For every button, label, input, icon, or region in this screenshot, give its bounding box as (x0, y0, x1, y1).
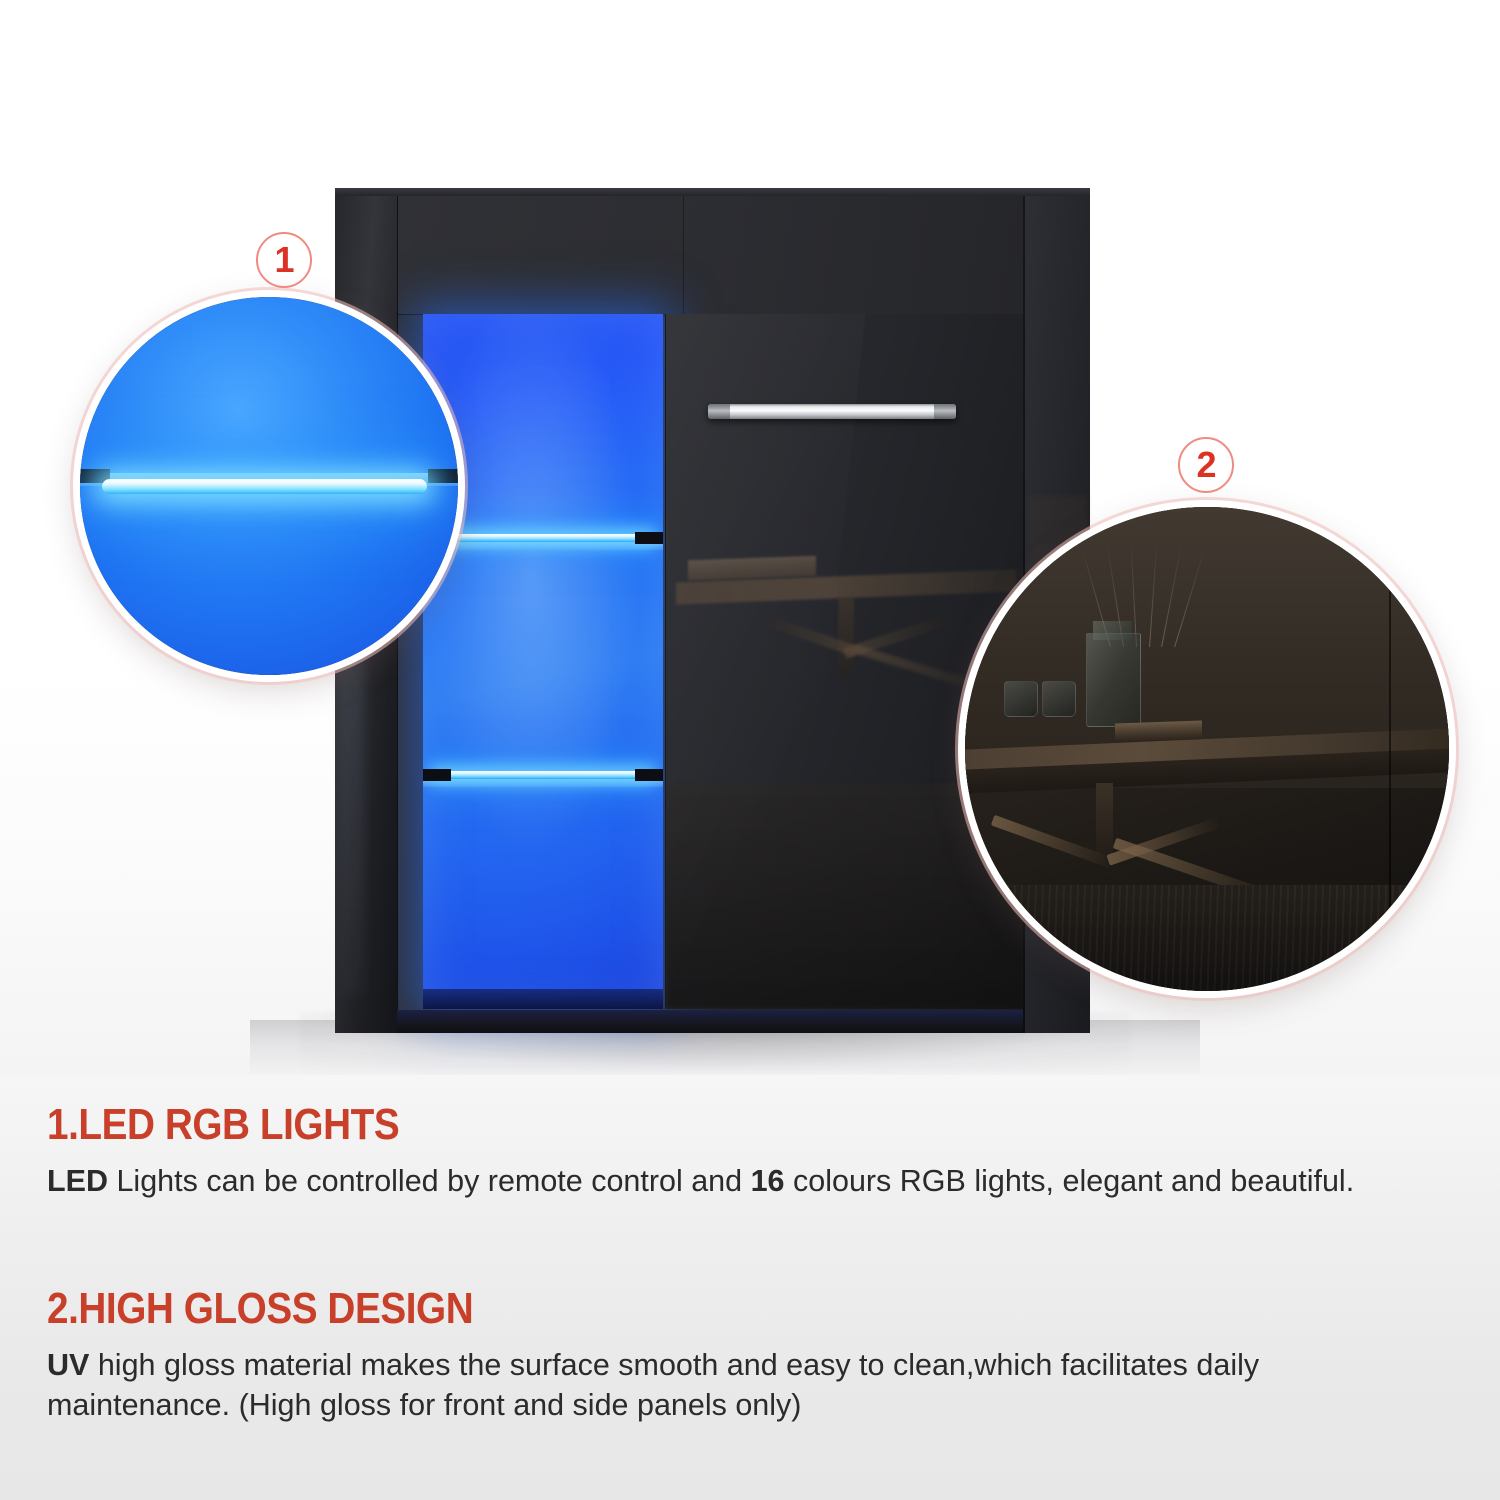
feature-1-body-lead: LED (47, 1164, 108, 1198)
callout-badge-2-number: 2 (1196, 447, 1215, 483)
feature-2-body-part-1: high gloss material makes the surface sm… (47, 1348, 1259, 1422)
reflection-carpet (965, 885, 1449, 991)
feature-2-body: UV high gloss material makes the surface… (47, 1346, 1447, 1425)
cabinet-top-panel (335, 188, 1090, 196)
reflection-vase (1086, 633, 1141, 727)
magnifier-gloss-closeup (958, 500, 1456, 998)
glass-shelf-upper (423, 532, 663, 554)
reflection-table-post (1096, 783, 1113, 856)
led-closeup-bracket-right (428, 469, 458, 483)
bay-floor (423, 989, 663, 1009)
cabinet-header-seam (683, 196, 684, 314)
cabinet-header-rail (397, 196, 1023, 315)
feature-1-body-part-1: Lights can be controlled by remote contr… (108, 1164, 751, 1198)
chrome-handle (708, 404, 956, 419)
shelf-glass (423, 779, 663, 787)
reflection-table-post (838, 598, 854, 676)
feature-1-title: 1.LED RGB LIGHTS (47, 1103, 1288, 1148)
gloss-closeup-background (965, 507, 1449, 991)
led-display-bay (423, 314, 663, 1009)
hero-product-photo: 1 2 (0, 0, 1500, 1075)
reflection-eyeglasses (1004, 681, 1077, 715)
callout-badge-2: 2 (1178, 437, 1234, 493)
reflection-panel-edge (1389, 507, 1391, 991)
shelf-bracket-left (423, 769, 451, 781)
glass-shelf-lower (423, 769, 663, 791)
feature-1-body-part-2: colours RGB lights, elegant and beautifu… (785, 1164, 1355, 1198)
shelf-bracket-right (635, 769, 663, 781)
callout-badge-1: 1 (256, 232, 312, 288)
feature-1-body-emphasis: 16 (751, 1164, 785, 1198)
callout-badge-1-number: 1 (274, 242, 293, 278)
magnifier-led-closeup (73, 290, 465, 682)
led-bay-glow (423, 314, 663, 1009)
feature-block-gloss: 2.HIGH GLOSS DESIGN UV high gloss materi… (47, 1287, 1457, 1425)
product-feature-graphic: 1 2 1.LED RGB LIGHTS LED Lights can be c… (0, 0, 1500, 1500)
feature-copy-panel: 1.LED RGB LIGHTS LED Lights can be contr… (0, 1075, 1500, 1500)
led-strip-icon (433, 771, 653, 779)
shelf-bracket-right (635, 532, 663, 544)
feature-2-body-lead: UV (47, 1348, 89, 1382)
feature-1-body: LED Lights can be controlled by remote c… (47, 1162, 1447, 1202)
cabinet-plinth (397, 1010, 1023, 1033)
led-strip-closeup-icon (102, 479, 427, 494)
feature-2-title: 2.HIGH GLOSS DESIGN (47, 1287, 1288, 1332)
led-strip-icon (433, 534, 653, 542)
feature-block-led: 1.LED RGB LIGHTS LED Lights can be contr… (47, 1103, 1457, 1202)
shelf-glass (423, 542, 663, 550)
